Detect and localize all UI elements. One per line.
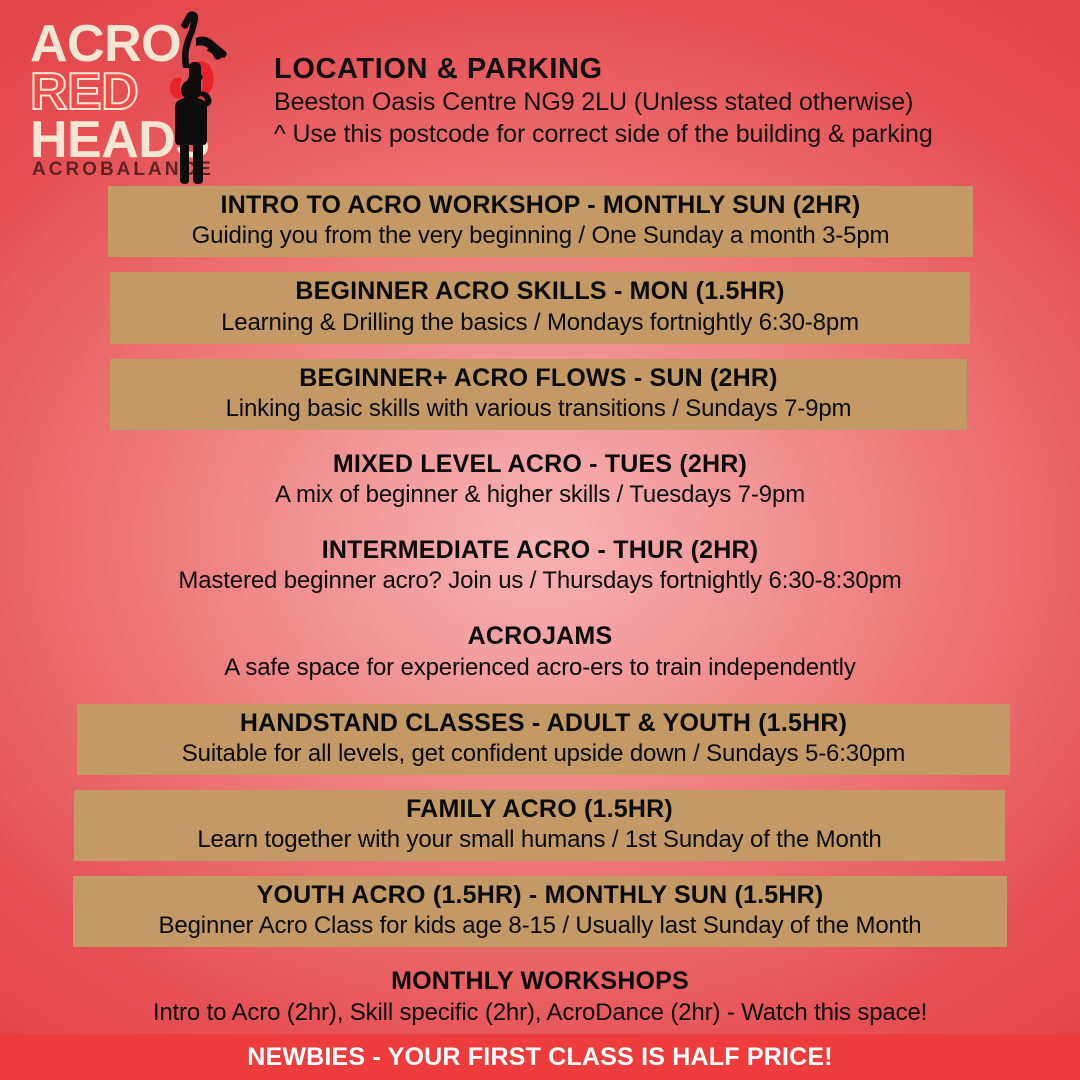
class-entry[interactable]: ACROJAMSA safe space for experienced acr… (0, 617, 1080, 688)
poster-root: ACRO RED HEADS ACROBALANCE LOCATION & PA… (0, 0, 1080, 1080)
class-title: INTERMEDIATE ACRO - THUR (2HR) (0, 535, 1080, 566)
class-description: Beginner Acro Class for kids age 8-15 / … (73, 911, 1007, 941)
brand-logo: ACRO RED HEADS ACROBALANCE (24, 8, 252, 184)
class-entry[interactable]: BEGINNER ACRO SKILLS - MON (1.5HR)Learni… (110, 272, 970, 343)
class-description: Linking basic skills with various transi… (110, 394, 967, 424)
class-description: Mastered beginner acro? Join us / Thursd… (0, 566, 1080, 596)
class-entry[interactable]: INTERMEDIATE ACRO - THUR (2HR)Mastered b… (0, 531, 1080, 602)
class-title: FAMILY ACRO (1.5HR) (74, 794, 1005, 825)
class-entry[interactable]: INTRO TO ACRO WORKSHOP - MONTHLY SUN (2H… (108, 186, 973, 257)
class-title: BEGINNER ACRO SKILLS - MON (1.5HR) (110, 276, 970, 307)
location-postcode-note: ^ Use this postcode for correct side of … (274, 118, 1064, 150)
class-title: YOUTH ACRO (1.5HR) - MONTHLY SUN (1.5HR) (73, 880, 1007, 911)
class-description: A safe space for experienced acro-ers to… (0, 653, 1080, 683)
class-title: BEGINNER+ ACRO FLOWS - SUN (2HR) (110, 363, 967, 394)
newbies-offer-banner: NEWBIES - YOUR FIRST CLASS IS HALF PRICE… (0, 1034, 1080, 1080)
location-parking-title: LOCATION & PARKING (274, 53, 1064, 86)
class-description: Guiding you from the very beginning / On… (108, 221, 973, 251)
class-entry[interactable]: MIXED LEVEL ACRO - TUES (2HR)A mix of be… (0, 445, 1080, 516)
class-description: Learn together with your small humans / … (74, 825, 1005, 855)
class-description: A mix of beginner & higher skills / Tues… (0, 480, 1080, 510)
class-title: MIXED LEVEL ACRO - TUES (2HR) (0, 449, 1080, 480)
class-entry[interactable]: YOUTH ACRO (1.5HR) - MONTHLY SUN (1.5HR)… (73, 876, 1007, 947)
class-entry[interactable]: FAMILY ACRO (1.5HR)Learn together with y… (74, 790, 1005, 861)
class-description: Intro to Acro (2hr), Skill specific (2hr… (0, 998, 1080, 1028)
logo-tagline-acrobalance: ACROBALANCE (32, 160, 214, 179)
location-parking-block: LOCATION & PARKING Beeston Oasis Centre … (274, 53, 1064, 150)
class-title: MONTHLY WORKSHOPS (0, 966, 1080, 997)
class-entry[interactable]: HANDSTAND CLASSES - ADULT & YOUTH (1.5HR… (77, 704, 1010, 775)
location-address-line: Beeston Oasis Centre NG9 2LU (Unless sta… (274, 86, 1064, 118)
class-title: ACROJAMS (0, 621, 1080, 652)
class-entry[interactable]: MONTHLY WORKSHOPSIntro to Acro (2hr), Sk… (0, 962, 1080, 1033)
newbies-offer-text: NEWBIES - YOUR FIRST CLASS IS HALF PRICE… (247, 1043, 833, 1072)
class-entry[interactable]: BEGINNER+ ACRO FLOWS - SUN (2HR)Linking … (110, 359, 967, 430)
class-description: Learning & Drilling the basics / Mondays… (110, 308, 970, 338)
class-title: INTRO TO ACRO WORKSHOP - MONTHLY SUN (2H… (108, 190, 973, 221)
class-timetable-list: INTRO TO ACRO WORKSHOP - MONTHLY SUN (2H… (0, 186, 1080, 1049)
class-description: Suitable for all levels, get confident u… (77, 739, 1010, 769)
class-title: HANDSTAND CLASSES - ADULT & YOUTH (1.5HR… (77, 708, 1010, 739)
